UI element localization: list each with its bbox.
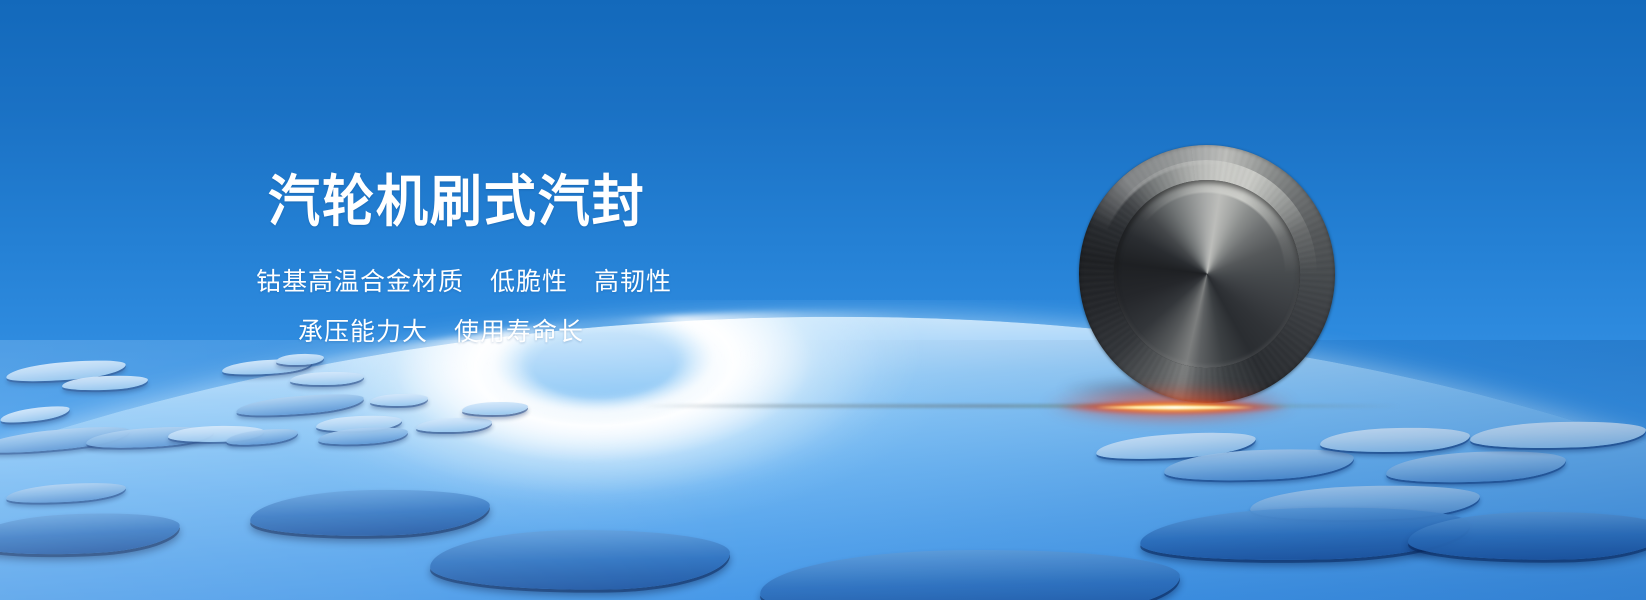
- landmass: [276, 353, 325, 366]
- brush-seal-ring-product: [1064, 130, 1350, 417]
- banner-title: 汽轮机刷式汽封: [268, 174, 646, 230]
- hero-banner: 汽轮机刷式汽封 钴基高温合金材质 低脆性 高韧性 承压能力大 使用寿命长: [0, 0, 1646, 600]
- landmass: [0, 403, 71, 426]
- earth-globe-backdrop: [0, 300, 1646, 600]
- banner-subtitle-line-1: 钴基高温合金材质 低脆性 高韧性: [256, 270, 672, 295]
- hot-glow-line: [1096, 406, 1254, 409]
